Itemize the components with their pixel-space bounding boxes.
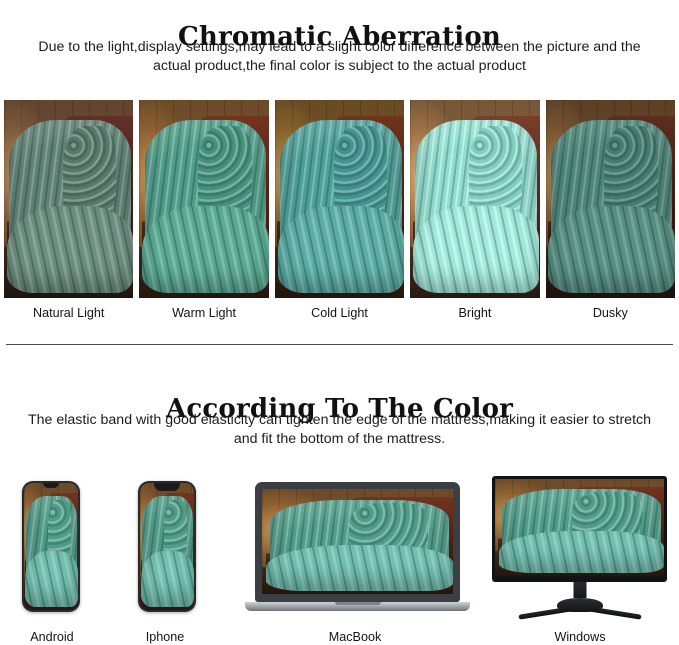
subtitle-according-to-the-color: The elastic band with good elasticity ca… [26, 411, 654, 449]
lighting-panel-0 [4, 100, 133, 298]
monitor-stand-icon [518, 590, 642, 612]
scene-3 [410, 100, 539, 298]
blanket-texture [334, 126, 388, 222]
iphone-screen [140, 483, 194, 610]
scene-macbook [262, 489, 453, 594]
product-blanket [26, 496, 77, 603]
device-mockup-android [22, 481, 80, 612]
monitor-frame [492, 476, 667, 582]
product-blanket [270, 500, 450, 588]
device-mockup-iphone [138, 481, 196, 612]
macbook-lid [255, 482, 460, 602]
blanket-texture [198, 126, 252, 222]
blanket-texture [349, 503, 428, 554]
device-mockup-row: Android Iphone MacBook Windows [0, 466, 679, 645]
device-label-android: Android [0, 630, 104, 644]
product-blanket [9, 120, 131, 286]
product-blanket [142, 496, 193, 603]
macbook-screen [262, 489, 453, 594]
blanket-texture [572, 492, 642, 539]
scene-android [24, 483, 78, 610]
lighting-panel-2 [275, 100, 404, 298]
device-mockup-windows [492, 476, 667, 616]
macbook-base [245, 602, 470, 611]
lighting-gallery-labels: Natural LightWarm LightCold LightBrightD… [4, 306, 675, 320]
scene-2 [275, 100, 404, 298]
iphone-notch-icon [154, 483, 180, 491]
lighting-label-0: Natural Light [4, 306, 133, 320]
device-mockup-macbook [255, 482, 460, 614]
lighting-panel-1 [139, 100, 268, 298]
device-label-windows: Windows [528, 630, 632, 644]
lighting-label-2: Cold Light [275, 306, 404, 320]
scene-windows [495, 479, 664, 576]
monitor-screen [495, 479, 664, 576]
lighting-panel-4 [546, 100, 675, 298]
blanket-texture [164, 500, 186, 562]
product-blanket [502, 489, 661, 570]
monitor-stand-hub [557, 598, 603, 612]
blanket-texture [48, 500, 70, 562]
product-blanket [415, 120, 537, 286]
scene-iphone [140, 483, 194, 610]
lighting-panel-3 [410, 100, 539, 298]
lighting-label-3: Bright [410, 306, 539, 320]
device-label-iphone: Iphone [113, 630, 217, 644]
lighting-gallery [4, 100, 675, 298]
blanket-texture [604, 126, 658, 222]
product-blanket [145, 120, 267, 286]
blanket-texture [63, 126, 117, 222]
scene-0 [4, 100, 133, 298]
macbook-hinge-notch-icon [335, 602, 381, 605]
product-blanket [280, 120, 402, 286]
subtitle-chromatic-aberration: Due to the light,display settings,may le… [26, 38, 654, 76]
lighting-label-4: Dusky [546, 306, 675, 320]
scene-4 [546, 100, 675, 298]
android-screen [24, 483, 78, 610]
lighting-label-1: Warm Light [139, 306, 268, 320]
blanket-texture [469, 126, 523, 222]
scene-1 [139, 100, 268, 298]
android-notch-icon [43, 483, 59, 488]
section-divider [6, 344, 673, 345]
product-blanket [551, 120, 673, 286]
device-label-macbook: MacBook [303, 630, 407, 644]
